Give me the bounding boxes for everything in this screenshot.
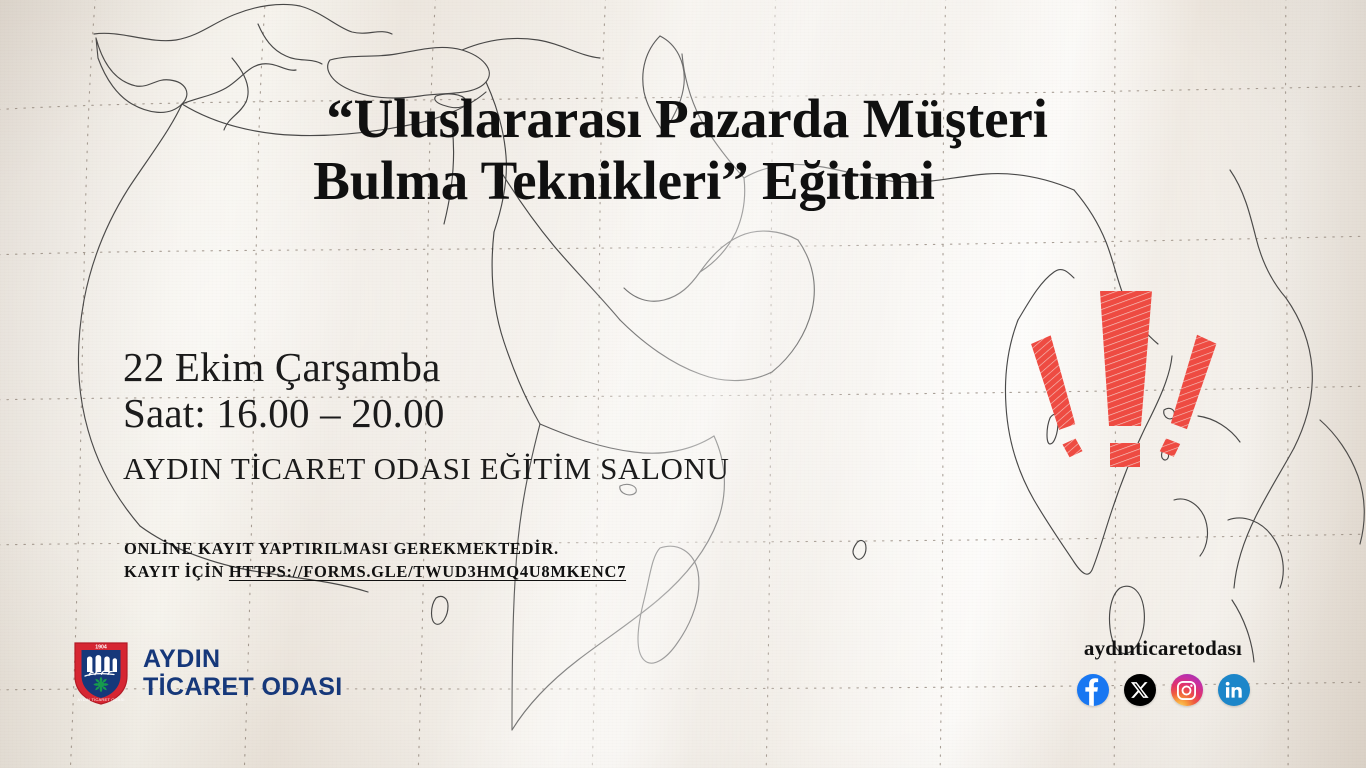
shield-fig-emblem — [93, 677, 108, 693]
registration-note: ONLİNE KAYIT YAPTIRILMASI GEREKMEKTEDİR.… — [124, 537, 626, 584]
facebook-icon[interactable] — [1077, 674, 1109, 706]
exclamation-marks-graphic — [1010, 285, 1250, 485]
poster-headline: “Uluslararası Pazarda Müşteri Bulma Tekn… — [0, 88, 1366, 211]
headline-line-1: “Uluslararası Pazarda Müşteri — [0, 88, 1366, 150]
organization-logo: 1904 — [72, 640, 343, 706]
social-icon-row — [1032, 674, 1294, 706]
event-date: 22 Ekim Çarşamba — [123, 345, 730, 391]
shield-rim-label: AYDIN TİCARET ODASI — [77, 697, 124, 702]
social-media-block: aydınticaretodası — [1032, 636, 1294, 706]
x-twitter-icon[interactable] — [1124, 674, 1156, 706]
exclamation-left — [1030, 334, 1083, 460]
organization-name: AYDIN TİCARET ODASI — [143, 645, 343, 702]
organization-name-line-1: AYDIN — [143, 645, 343, 674]
linkedin-icon[interactable] — [1218, 674, 1250, 706]
instagram-icon[interactable] — [1171, 674, 1203, 706]
event-time: Saat: 16.00 – 20.00 — [123, 391, 730, 437]
exclamation-right — [1159, 333, 1217, 460]
organization-name-line-2: TİCARET ODASI — [143, 673, 343, 702]
three-exclamation-marks-icon — [1010, 285, 1250, 485]
registration-url-link[interactable]: HTTPS://FORMS.GLE/TWUD3HMQ4U8MKENC7 — [229, 562, 626, 581]
event-details: 22 Ekim Çarşamba Saat: 16.00 – 20.00 AYD… — [123, 345, 730, 487]
social-handle: aydınticaretodası — [1032, 636, 1294, 661]
headline-line-2: Bulma Teknikleri” Eğitimi — [0, 150, 1366, 212]
aydin-chamber-shield-icon: 1904 — [72, 640, 130, 706]
exclamation-center — [1100, 291, 1152, 467]
registration-link-row: KAYIT İÇİN HTTPS://FORMS.GLE/TWUD3HMQ4U8… — [124, 560, 626, 583]
event-poster: “Uluslararası Pazarda Müşteri Bulma Tekn… — [0, 0, 1366, 768]
registration-link-prefix: KAYIT İÇİN — [124, 562, 229, 581]
shield-year-label: 1904 — [95, 644, 107, 650]
event-venue: AYDIN TİCARET ODASI EĞİTİM SALONU — [123, 451, 730, 487]
registration-requirement-text: ONLİNE KAYIT YAPTIRILMASI GEREKMEKTEDİR. — [124, 537, 626, 560]
